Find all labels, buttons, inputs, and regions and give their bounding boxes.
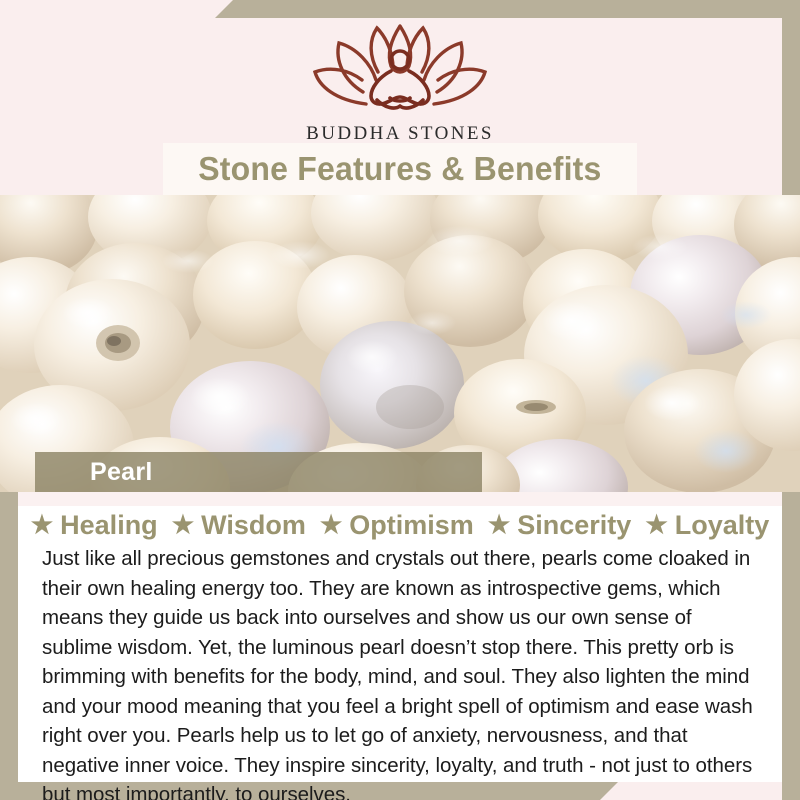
- star-icon: ★: [320, 513, 342, 538]
- page-title: Stone Features & Benefits: [198, 150, 601, 188]
- benefit-label: Sincerity: [517, 510, 631, 541]
- pearl-photo: [0, 195, 800, 492]
- star-icon: ★: [488, 513, 510, 538]
- star-icon: ★: [31, 513, 53, 538]
- benefit-sincerity: ★ Sincerity: [481, 510, 638, 541]
- decorative-band-left: [0, 490, 18, 800]
- stone-name: Pearl: [90, 458, 153, 487]
- benefit-optimism: ★ Optimism: [313, 510, 481, 541]
- stone-name-bar: Pearl: [35, 452, 482, 492]
- benefits-row: ★ Healing ★ Wisdom ★ Optimism ★ Sincerit…: [18, 510, 782, 541]
- title-banner: Stone Features & Benefits: [163, 143, 637, 195]
- benefit-label: Loyalty: [675, 510, 770, 541]
- benefit-label: Wisdom: [201, 510, 306, 541]
- benefit-healing: ★ Healing: [24, 510, 165, 541]
- card-top-tint: [18, 492, 782, 506]
- benefit-label: Healing: [60, 510, 158, 541]
- benefit-loyalty: ★ Loyalty: [638, 510, 776, 541]
- benefit-label: Optimism: [349, 510, 474, 541]
- content-card: ★ Healing ★ Wisdom ★ Optimism ★ Sincerit…: [18, 492, 782, 782]
- description-paragraph: Just like all precious gemstones and cry…: [42, 544, 758, 800]
- star-icon: ★: [645, 513, 667, 538]
- lotus-meditation-icon: [305, 20, 495, 117]
- brand-wordmark: BUDDHA STONES: [306, 123, 494, 145]
- star-icon: ★: [172, 513, 194, 538]
- benefit-wisdom: ★ Wisdom: [165, 510, 313, 541]
